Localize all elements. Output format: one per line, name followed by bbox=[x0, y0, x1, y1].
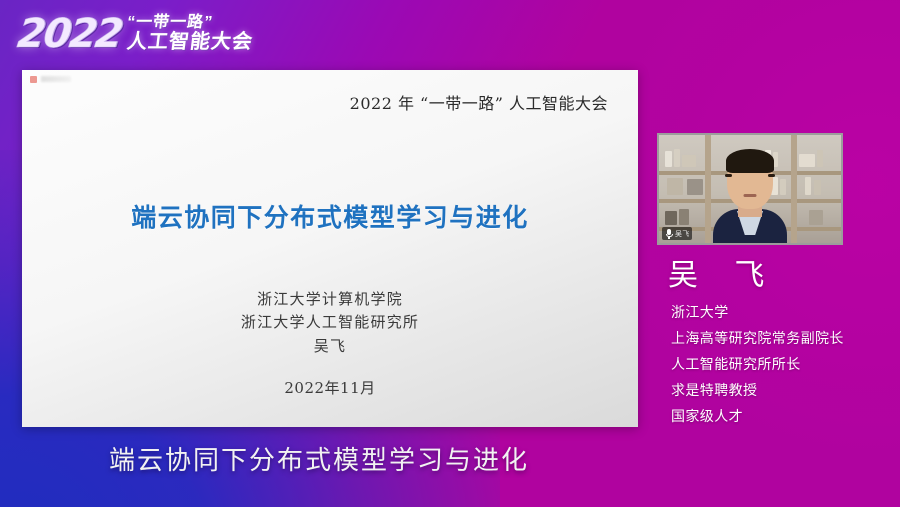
credential-item: 浙江大学 bbox=[671, 302, 896, 322]
bookshelf-post bbox=[705, 135, 711, 243]
slide-date: 2022年11月 bbox=[22, 377, 638, 398]
logo-line-belt-and-road: “一带一路” bbox=[126, 15, 254, 31]
book bbox=[809, 210, 823, 225]
presentation-slide[interactable]: 2022 年 “一带一路” 人工智能大会 端云协同下分布式模型学习与进化 浙江大… bbox=[22, 70, 638, 427]
book bbox=[665, 151, 672, 167]
video-participant-name: 吴飞 bbox=[675, 229, 689, 239]
broadcast-stage: 2022 “一带一路” 人工智能大会 2022 年 “一带一路” 人工智能大会 … bbox=[0, 0, 900, 507]
speaker-figure bbox=[713, 147, 787, 243]
logo-year-text: 2022 bbox=[16, 14, 124, 54]
book bbox=[687, 179, 703, 195]
book bbox=[805, 177, 811, 195]
slide-title: 端云协同下分布式模型学习与进化 bbox=[22, 198, 638, 234]
book bbox=[814, 180, 821, 195]
conference-logo: 2022 “一带一路” 人工智能大会 bbox=[18, 5, 293, 63]
logo-line-ai-conference: 人工智能大会 bbox=[126, 32, 255, 52]
book bbox=[667, 178, 683, 195]
slide-affiliation-block: 浙江大学计算机学院 浙江大学人工智能研究所 吴飞 bbox=[22, 288, 638, 358]
talk-title-caption: 端云协同下分布式模型学习与进化 bbox=[0, 440, 900, 477]
credential-item: 上海高等研究院常务副院长 bbox=[671, 328, 896, 348]
speaker-name: 吴 飞 bbox=[668, 250, 778, 294]
slide-header-text: 2022 年 “一带一路” 人工智能大会 bbox=[350, 90, 608, 114]
book bbox=[682, 155, 696, 167]
book bbox=[817, 150, 823, 167]
video-name-label: 吴飞 bbox=[662, 227, 692, 240]
logo-wordmark: “一带一路” 人工智能大会 bbox=[127, 15, 253, 53]
book bbox=[665, 211, 677, 225]
bookshelf-post bbox=[791, 135, 797, 243]
speaker-hair bbox=[726, 149, 774, 173]
credential-item: 国家级人才 bbox=[671, 406, 896, 426]
book bbox=[679, 209, 689, 225]
credential-item: 求是特聘教授 bbox=[671, 380, 896, 400]
credential-item: 人工智能研究所所长 bbox=[671, 354, 896, 374]
affiliation-line: 浙江大学人工智能研究所 bbox=[22, 311, 638, 334]
affiliation-line: 吴飞 bbox=[22, 335, 638, 358]
slide-capture-artifact bbox=[30, 73, 82, 85]
speaker-credentials-list: 浙江大学 上海高等研究院常务副院长 人工智能研究所所长 求是特聘教授 国家级人才 bbox=[671, 302, 896, 426]
speaker-eye-left bbox=[725, 174, 732, 177]
book bbox=[799, 154, 815, 167]
blurred-toolbar-artifact bbox=[41, 76, 71, 82]
microphone-icon bbox=[665, 229, 673, 239]
book bbox=[674, 149, 680, 167]
speaker-eye-right bbox=[768, 174, 775, 177]
affiliation-line: 浙江大学计算机学院 bbox=[22, 288, 638, 311]
red-marker-icon bbox=[30, 76, 37, 83]
speaker-video-tile[interactable]: 吴飞 bbox=[657, 133, 843, 245]
speaker-mouth bbox=[744, 194, 757, 197]
